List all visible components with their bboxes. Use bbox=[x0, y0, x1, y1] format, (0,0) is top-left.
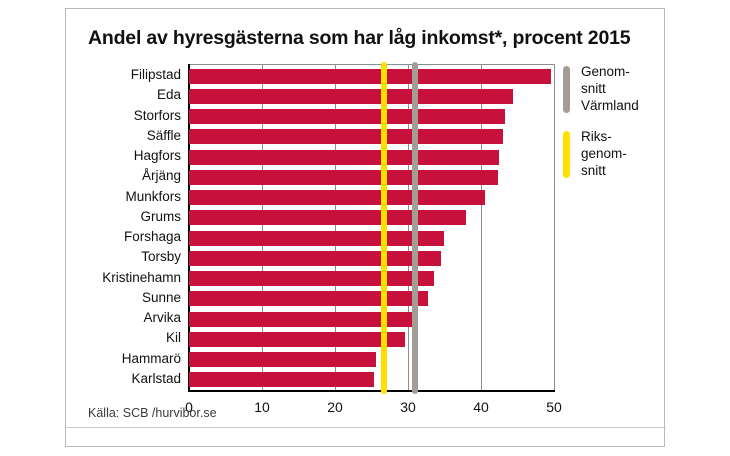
y-axis-label-hagfors: Hagfors bbox=[134, 148, 181, 163]
y-axis-label-kil: Kil bbox=[166, 330, 181, 345]
footer-divider bbox=[66, 427, 666, 428]
bar-row: Filipstad bbox=[189, 66, 554, 86]
reference-line-riksgenomsnitt bbox=[381, 62, 387, 394]
bar-row: Karlstad bbox=[189, 370, 554, 390]
x-axis-line bbox=[188, 390, 555, 392]
y-axis-label-forshaga: Forshaga bbox=[124, 229, 181, 244]
x-tick-10: 10 bbox=[254, 399, 270, 415]
x-tick-30: 30 bbox=[400, 399, 416, 415]
bar-årjäng bbox=[189, 170, 498, 185]
legend-label-line: Genom- bbox=[581, 63, 661, 80]
legend-item-national-average: Riks-genom-snitt bbox=[561, 128, 661, 179]
legend-label-line: snitt bbox=[581, 162, 661, 179]
bar-row: Munkfors bbox=[189, 188, 554, 208]
y-axis-label-filipstad: Filipstad bbox=[131, 67, 181, 82]
y-axis-label-årjäng: Årjäng bbox=[142, 168, 181, 183]
y-axis-label-torsby: Torsby bbox=[141, 249, 181, 264]
screenshot-root: Andel av hyresgästerna som har låg inkom… bbox=[0, 0, 730, 456]
bar-row: Hagfors bbox=[189, 147, 554, 167]
bar-sunne bbox=[189, 291, 428, 306]
plot-top-border bbox=[188, 64, 555, 65]
legend-label-line: snitt bbox=[581, 80, 661, 97]
legend-item-average-varmland: Genom-snittVärmland bbox=[561, 63, 661, 114]
x-axis-tick-labels: 01020304050 bbox=[189, 399, 554, 421]
bar-hagfors bbox=[189, 150, 499, 165]
bar-filipstad bbox=[189, 69, 551, 84]
y-axis-label-eda: Eda bbox=[157, 87, 181, 102]
y-axis-label-storfors: Storfors bbox=[134, 108, 181, 123]
legend-label-line: Riks- bbox=[581, 128, 661, 145]
bar-row: Torsby bbox=[189, 248, 554, 268]
bar-munkfors bbox=[189, 190, 485, 205]
bar-row: Grums bbox=[189, 208, 554, 228]
legend-swatch-national-average bbox=[563, 131, 570, 178]
y-axis-label-säffle: Säffle bbox=[147, 128, 181, 143]
bar-kil bbox=[189, 332, 405, 347]
source-note: Källa: SCB /hurvibor.se bbox=[88, 406, 217, 420]
legend-label-line: Värmland bbox=[581, 97, 661, 114]
bar-torsby bbox=[189, 251, 441, 266]
bar-storfors bbox=[189, 109, 505, 124]
x-tick-20: 20 bbox=[327, 399, 343, 415]
bar-row: Kil bbox=[189, 329, 554, 349]
legend-swatch-average-varmland bbox=[563, 66, 570, 113]
legend-label-national-average: Riks-genom-snitt bbox=[581, 128, 661, 179]
y-axis-label-karlstad: Karlstad bbox=[131, 371, 181, 386]
bar-row: Arvika bbox=[189, 309, 554, 329]
y-axis-label-grums: Grums bbox=[141, 209, 182, 224]
bar-arvika bbox=[189, 312, 413, 327]
bar-row: Kristinehamn bbox=[189, 269, 554, 289]
chart-legend: Genom-snittVärmlandRiks-genom-snitt bbox=[561, 63, 661, 193]
bar-hammarö bbox=[189, 352, 376, 367]
y-axis-label-hammarö: Hammarö bbox=[122, 351, 181, 366]
bar-säffle bbox=[189, 129, 503, 144]
gridline-50 bbox=[554, 64, 555, 390]
chart-card: Andel av hyresgästerna som har låg inkom… bbox=[65, 8, 665, 447]
bar-row: Eda bbox=[189, 86, 554, 106]
legend-label-line: genom- bbox=[581, 145, 661, 162]
bar-eda bbox=[189, 89, 513, 104]
bar-karlstad bbox=[189, 372, 374, 387]
bar-row: Sunne bbox=[189, 289, 554, 309]
bar-row: Hammarö bbox=[189, 350, 554, 370]
bar-row: Storfors bbox=[189, 107, 554, 127]
y-axis-label-sunne: Sunne bbox=[142, 290, 181, 305]
bar-forshaga bbox=[189, 231, 444, 246]
x-tick-40: 40 bbox=[473, 399, 489, 415]
bar-row: Säffle bbox=[189, 127, 554, 147]
page-title: Andel av hyresgästerna som har låg inkom… bbox=[88, 27, 648, 50]
bar-grums bbox=[189, 210, 466, 225]
bar-row: Forshaga bbox=[189, 228, 554, 248]
y-axis-label-munkfors: Munkfors bbox=[125, 189, 181, 204]
y-axis-label-arvika: Arvika bbox=[143, 310, 181, 325]
bar-row: Årjäng bbox=[189, 167, 554, 187]
plot-area: FilipstadEdaStorforsSäffleHagforsÅrjängM… bbox=[189, 66, 554, 390]
legend-label-average-varmland: Genom-snittVärmland bbox=[581, 63, 661, 114]
y-axis-label-kristinehamn: Kristinehamn bbox=[102, 270, 181, 285]
x-tick-50: 50 bbox=[546, 399, 562, 415]
bar-kristinehamn bbox=[189, 271, 434, 286]
reference-line-genomsnitt-värmland bbox=[412, 62, 418, 394]
